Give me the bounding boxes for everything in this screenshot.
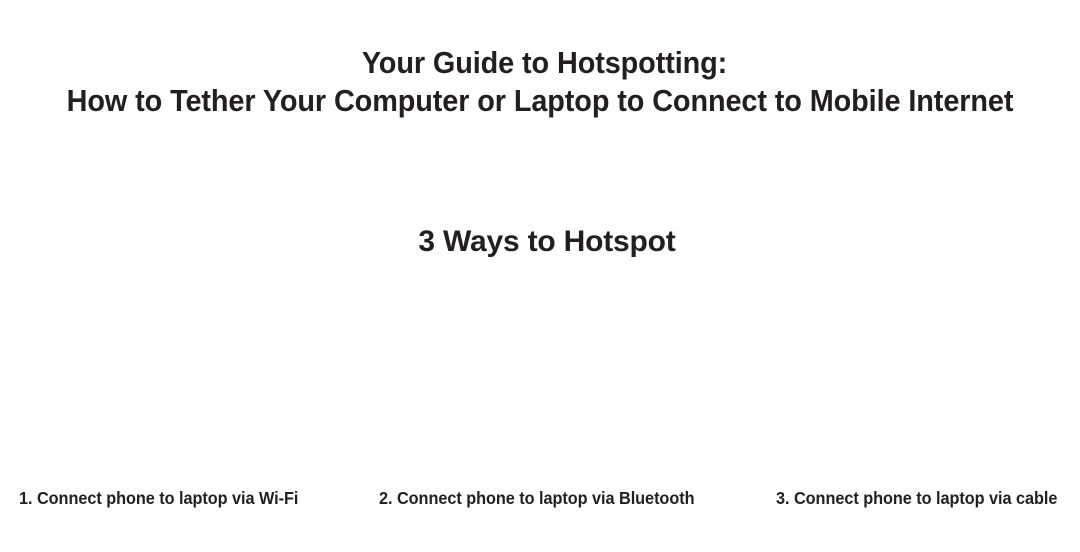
page-title: Your Guide to Hotspotting: How to Tether… — [0, 44, 1080, 120]
method-captions: 1. Connect phone to laptop via Wi-Fi 2. … — [0, 486, 1080, 516]
method-caption-wifi: 1. Connect phone to laptop via Wi-Fi — [19, 486, 298, 510]
illustration-slot-wifi — [0, 280, 360, 478]
section-heading: 3 Ways to Hotspot — [0, 224, 1080, 260]
illustration-slot-bluetooth — [360, 280, 720, 478]
illustration-slot-cable — [720, 280, 1080, 478]
page-title-line-1: Your Guide to Hotspotting: — [46, 44, 1042, 82]
method-caption-bluetooth: 2. Connect phone to laptop via Bluetooth — [379, 486, 695, 510]
infographic-page: Your Guide to Hotspotting: How to Tether… — [0, 0, 1080, 552]
method-caption-cable: 3. Connect phone to laptop via cable — [776, 486, 1057, 510]
section-heading-text: 3 Ways to Hotspot — [418, 224, 675, 260]
page-title-line-2: How to Tether Your Computer or Laptop to… — [38, 82, 1042, 120]
illustration-area — [0, 280, 1080, 478]
